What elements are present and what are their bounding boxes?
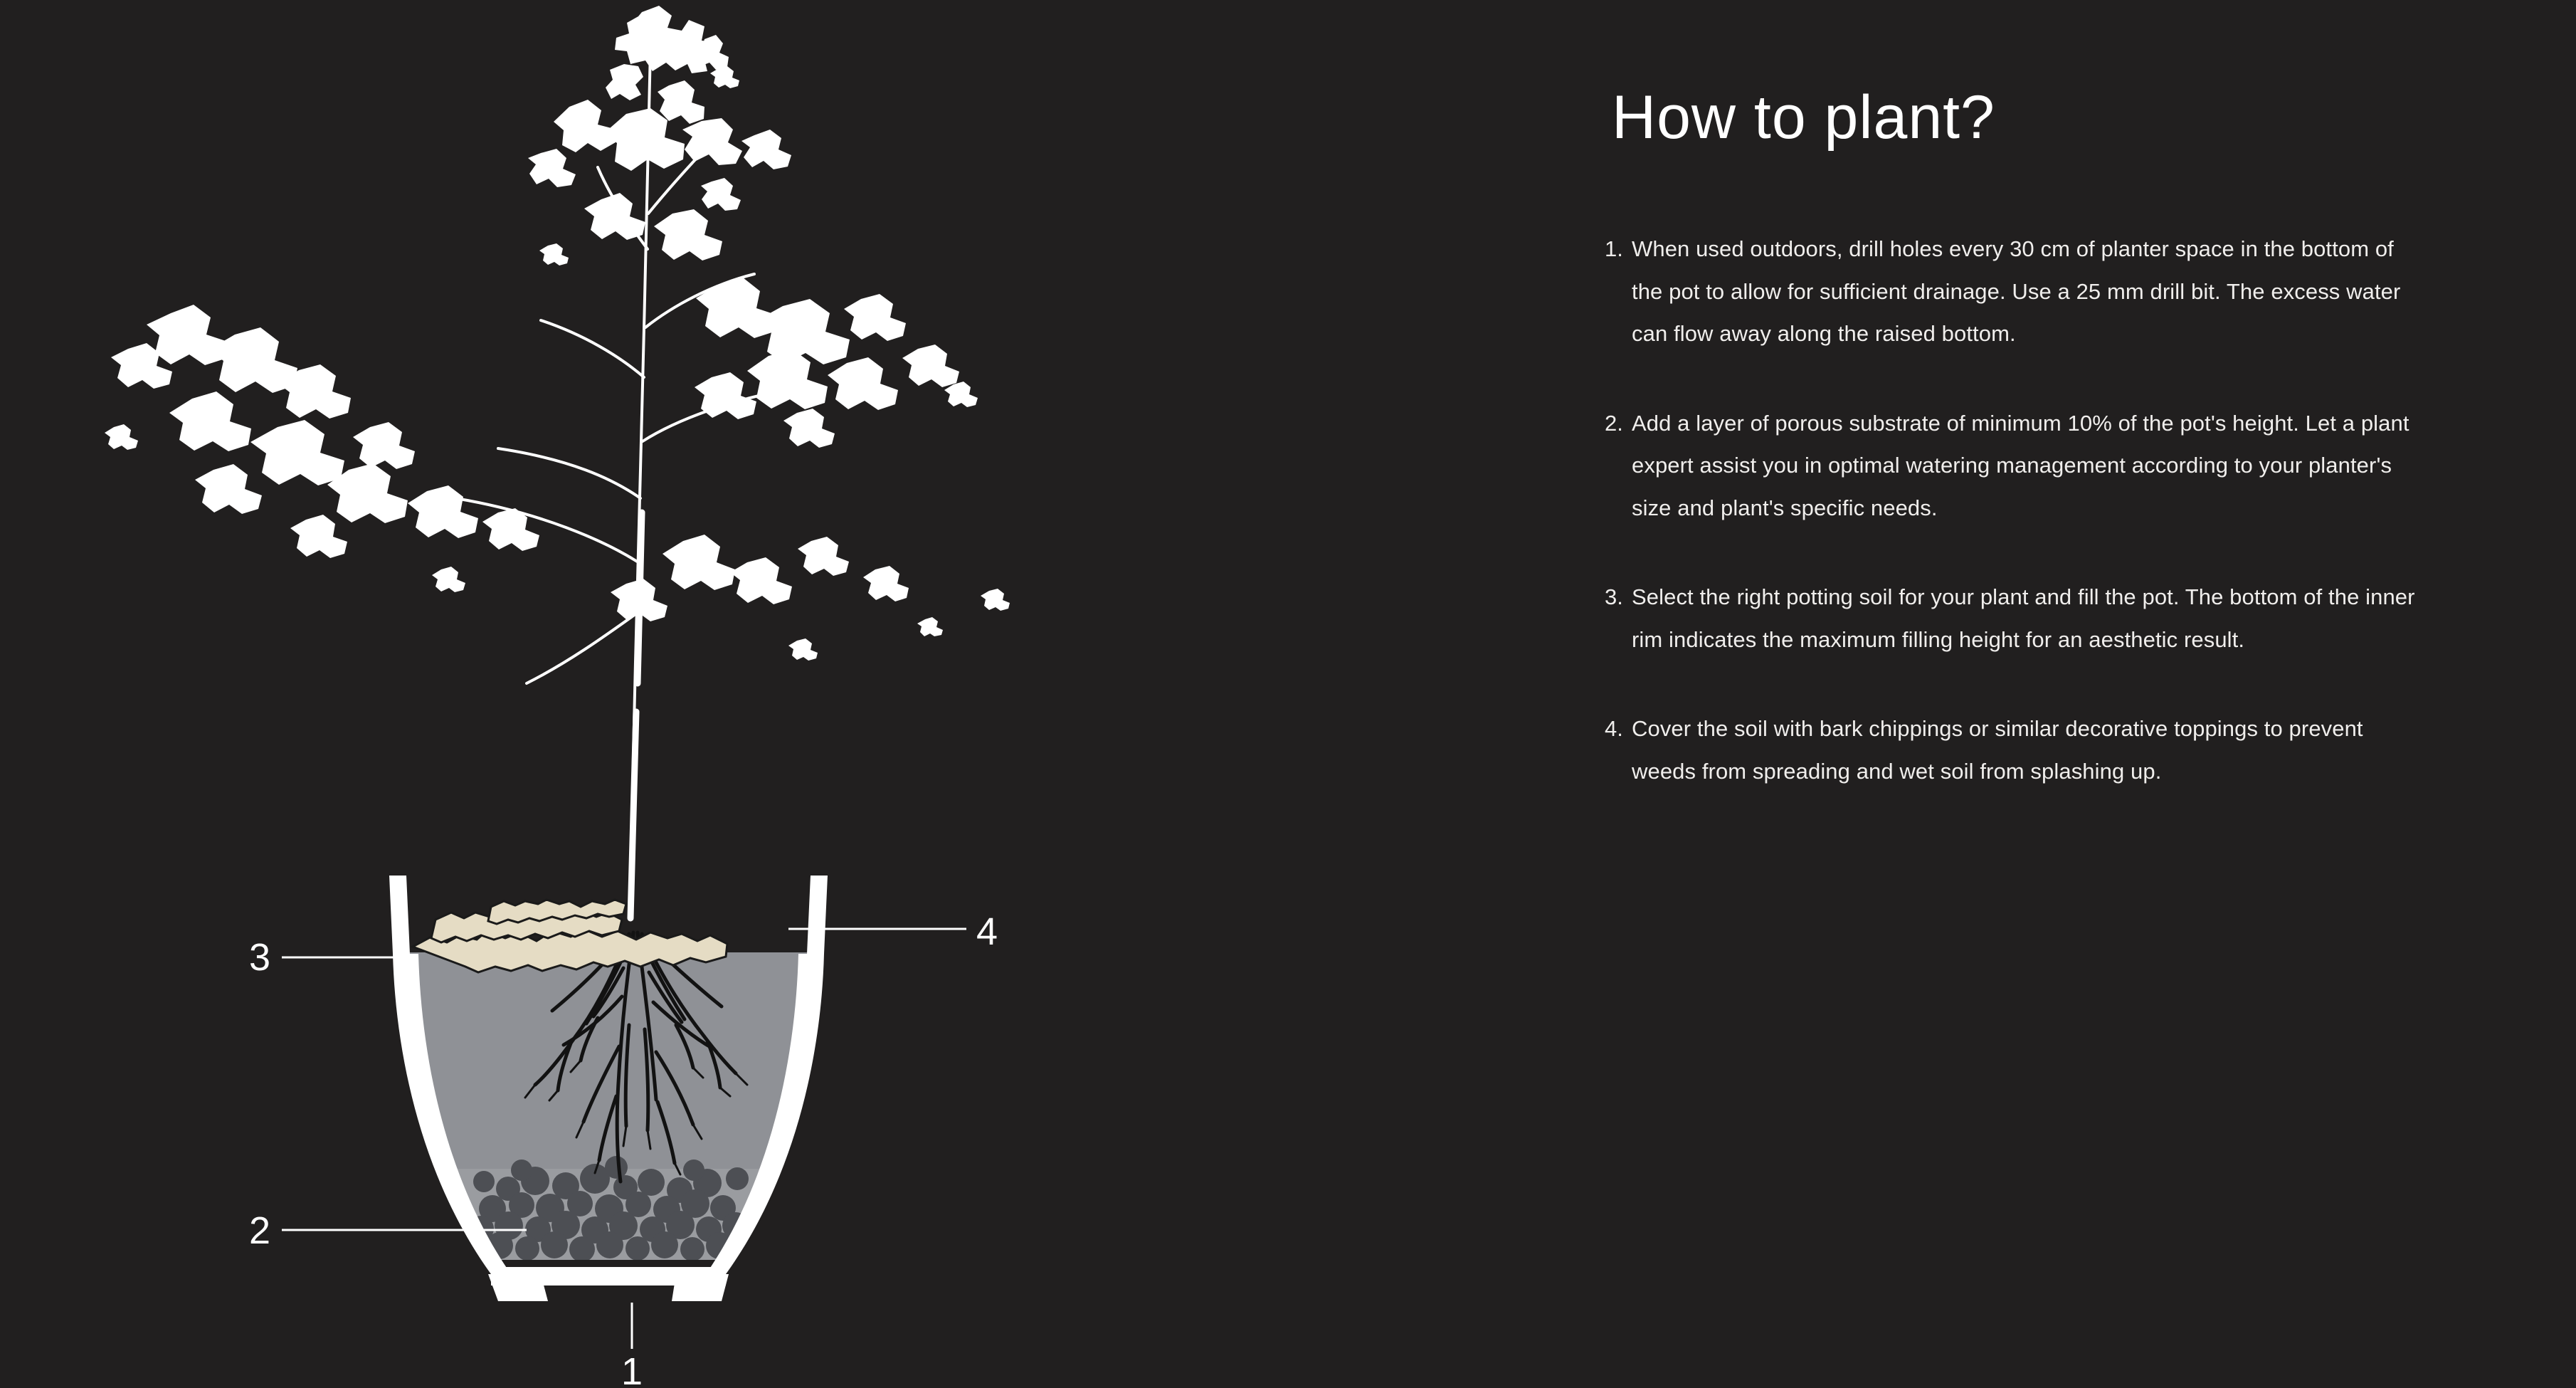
- callout-number-2: 2: [249, 1211, 271, 1250]
- step-number: 4.: [1605, 708, 1632, 750]
- tree-trunk: [455, 50, 797, 915]
- step-number: 3.: [1605, 576, 1632, 619]
- page-root: 1 2 3 4 How to plant? 1. When used outdo…: [0, 0, 2576, 1388]
- step-number: 1.: [1605, 228, 1632, 270]
- tree-silhouette-icon: [105, 6, 1010, 661]
- pot-foot-right: [672, 1274, 729, 1301]
- callout-number-4: 4: [976, 913, 998, 951]
- bark-chippings-layer: [413, 900, 727, 972]
- step-item: 1. When used outdoors, drill holes every…: [1605, 228, 2430, 355]
- planter-diagram: [0, 0, 1210, 1388]
- step-text: Select the right potting soil for your p…: [1632, 576, 2430, 661]
- callout-number-1: 1: [621, 1352, 643, 1388]
- instructions-panel: How to plant? 1. When used outdoors, dri…: [1605, 85, 2430, 792]
- step-item: 3. Select the right potting soil for you…: [1605, 576, 2430, 661]
- steps-list: 1. When used outdoors, drill holes every…: [1605, 228, 2430, 792]
- step-item: 4. Cover the soil with bark chippings or…: [1605, 708, 2430, 792]
- pot-raised-bottom: [488, 1267, 729, 1301]
- step-number: 2.: [1605, 402, 1632, 445]
- tree-trunk-thick: [630, 512, 642, 918]
- callout-number-3: 3: [249, 938, 271, 977]
- planter-diagram-svg: [0, 0, 1210, 1388]
- step-text: Cover the soil with bark chippings or si…: [1632, 708, 2430, 792]
- step-text: When used outdoors, drill holes every 30…: [1632, 228, 2430, 355]
- pot-foot-left: [488, 1274, 548, 1301]
- page-title: How to plant?: [1605, 85, 2430, 149]
- step-item: 2. Add a layer of porous substrate of mi…: [1605, 402, 2430, 530]
- step-text: Add a layer of porous substrate of minim…: [1632, 402, 2430, 530]
